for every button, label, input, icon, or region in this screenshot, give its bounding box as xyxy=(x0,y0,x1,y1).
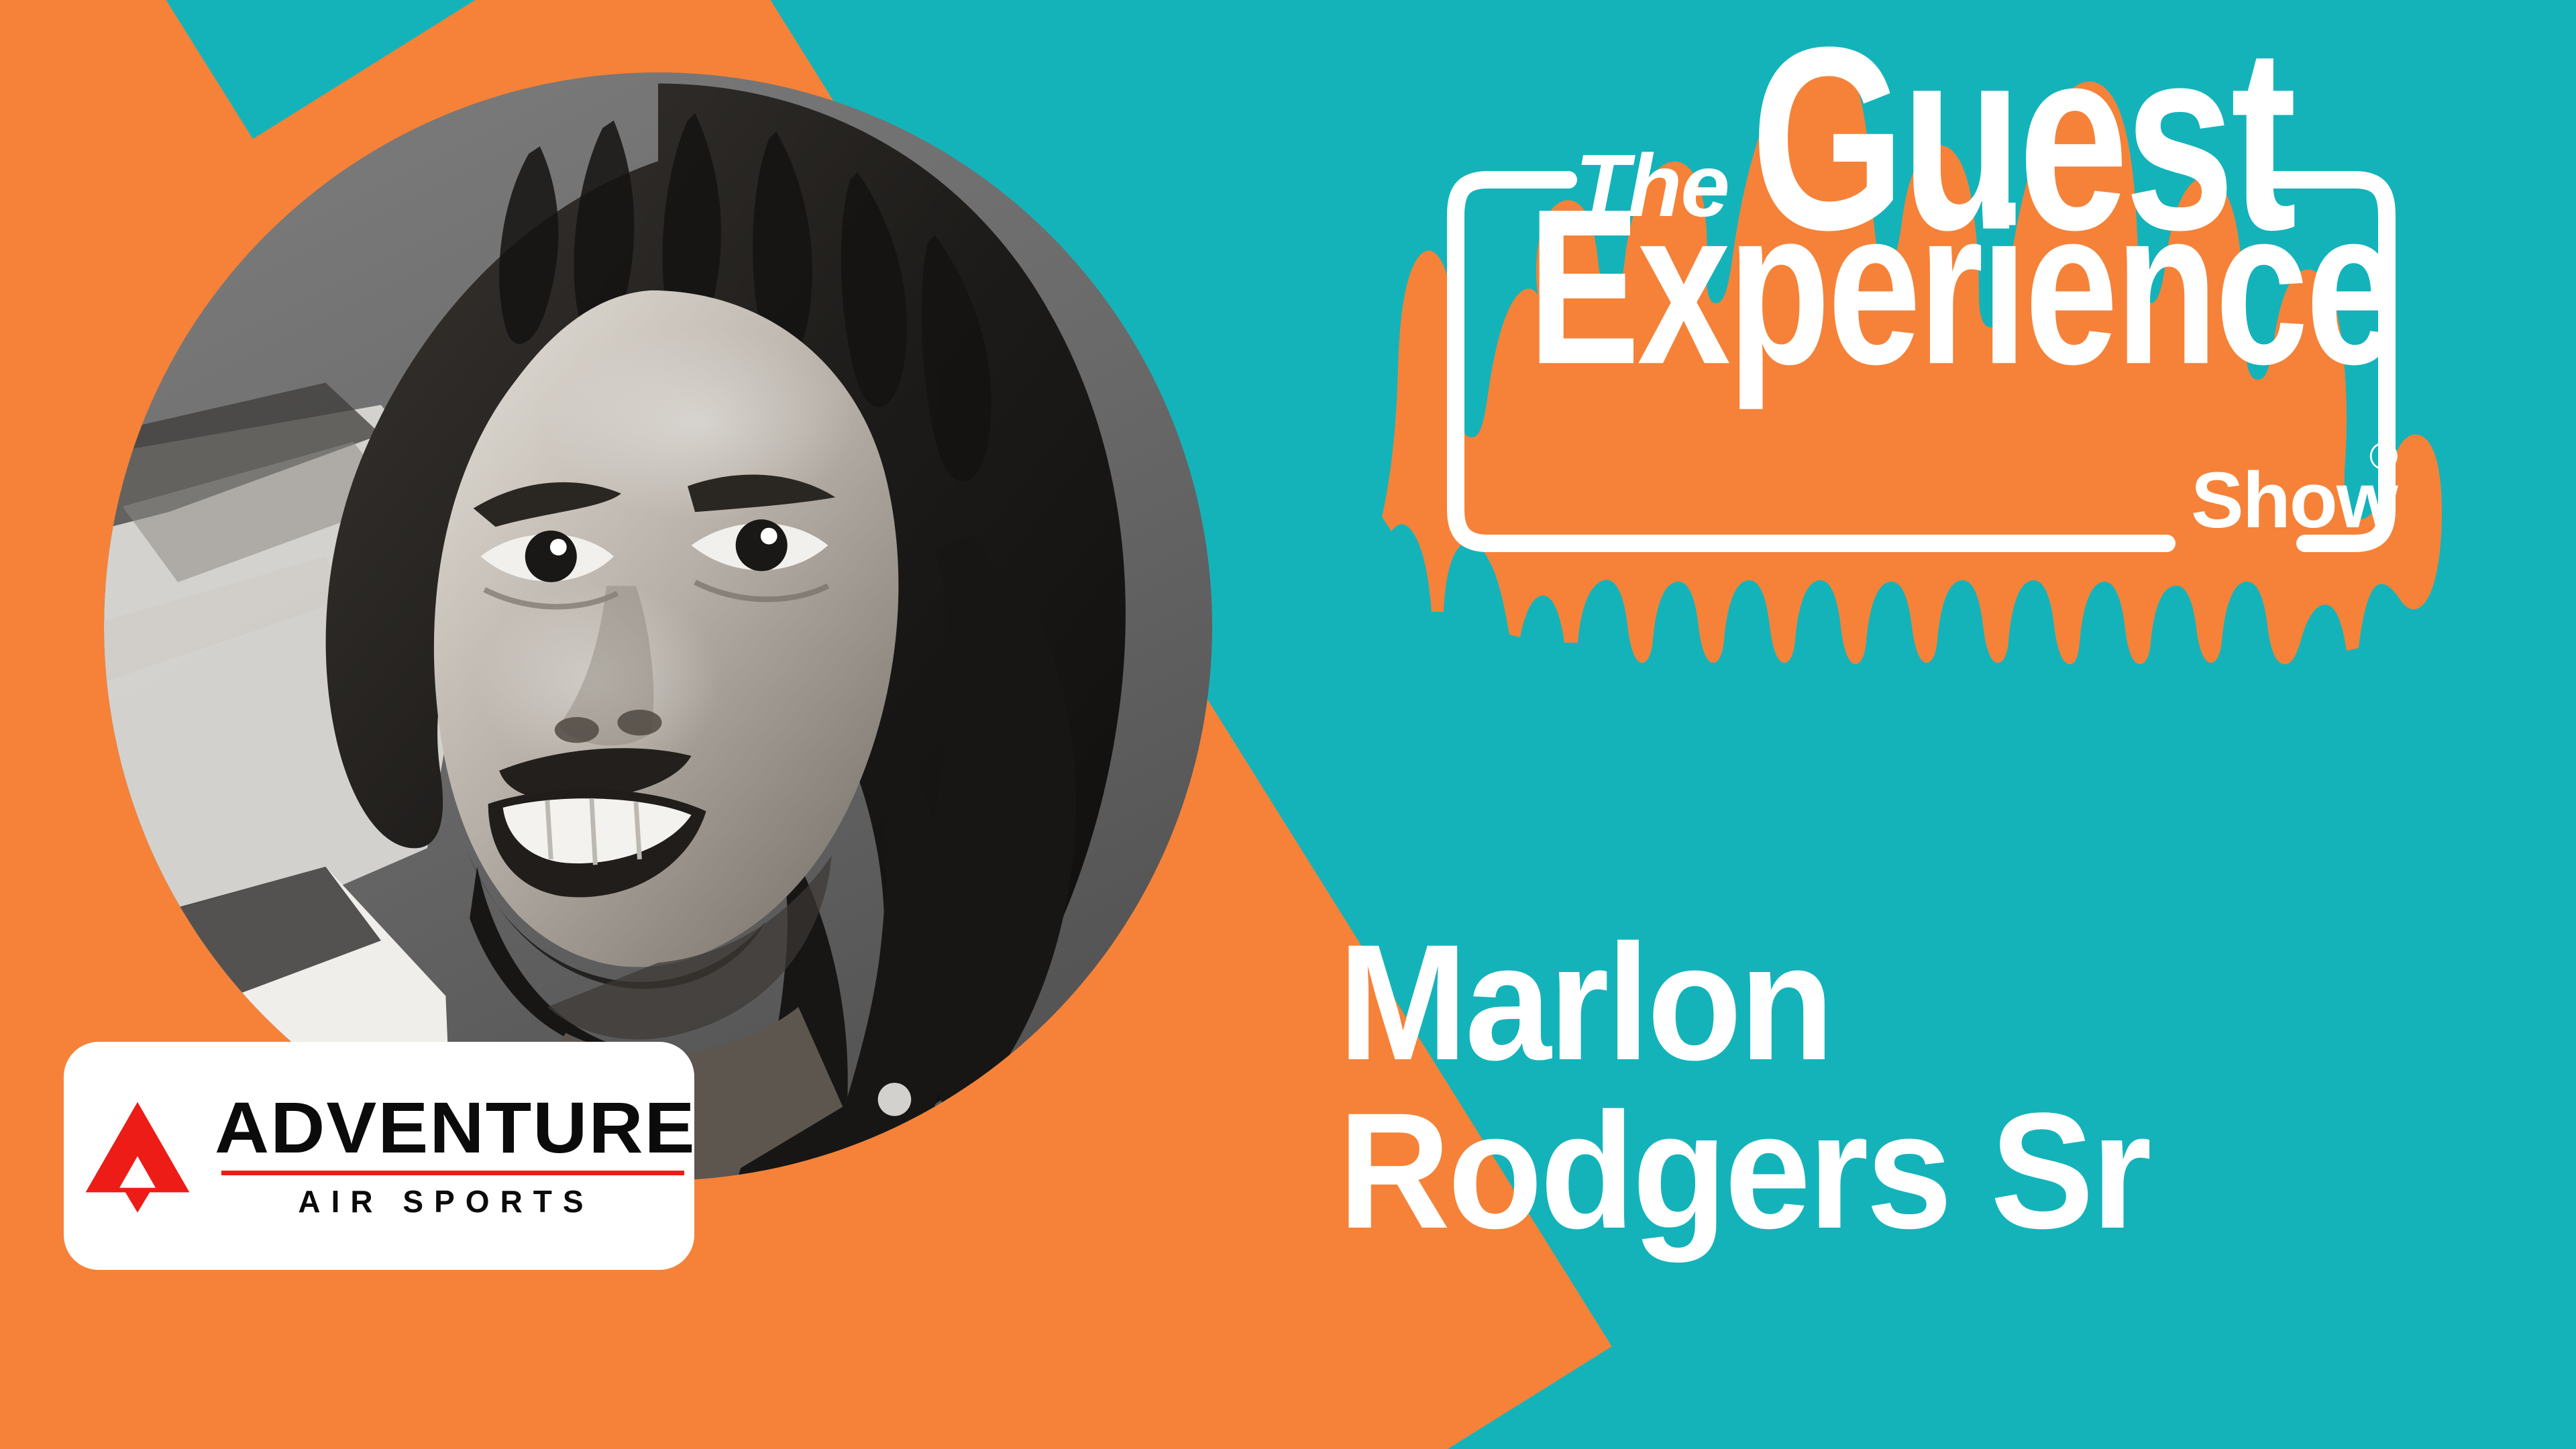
sponsor-name: ADVENTURE xyxy=(215,1092,696,1163)
podcast-logo[interactable]: The Guest Experience Show ® xyxy=(1409,47,2576,664)
guest-name-line-1: Marlon xyxy=(1338,919,2467,1087)
logo-word-show: Show xyxy=(2191,456,2399,545)
sponsor-wordmark: ADVENTURE AIR SPORTS xyxy=(215,1092,678,1220)
sponsor-tagline: AIR SPORTS xyxy=(215,1183,678,1220)
registered-trademark-icon: ® xyxy=(2369,435,2398,478)
guest-name-line-2: Rodgers Sr xyxy=(1338,1087,2467,1256)
episode-cover-card: ADVENTURE AIR SPORTS The Guest Ex xyxy=(0,0,2576,1449)
guest-name: Marlon Rodgers Sr xyxy=(1338,919,2539,1256)
sponsor-divider-rule xyxy=(221,1171,684,1175)
adventure-air-sports-mark-icon xyxy=(80,1097,195,1215)
guest-portrait xyxy=(104,72,1212,1181)
logo-word-experience: Experience xyxy=(1528,164,2396,412)
sponsor-badge[interactable]: ADVENTURE AIR SPORTS xyxy=(64,1042,694,1270)
